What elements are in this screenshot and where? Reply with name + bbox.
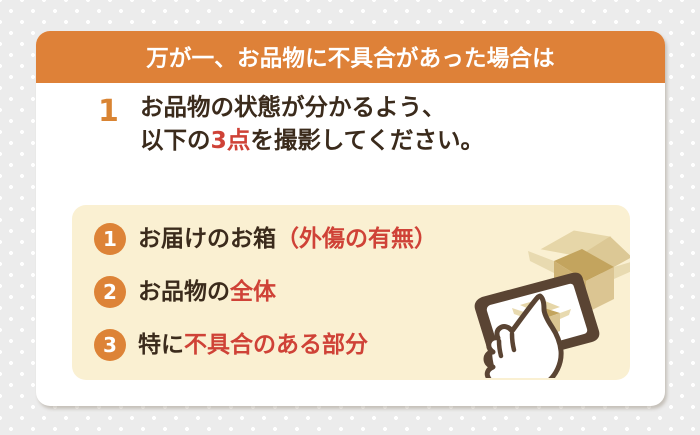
step-line2-suffix: を撮影してください。 — [250, 126, 484, 154]
page-background: 万が一、お品物に不具合があった場合は 1 お品物の状態が分かるよう、 以下の3点… — [0, 0, 700, 435]
tablet-device-icon — [475, 273, 600, 367]
checklist-badge-2: 2 — [94, 276, 126, 308]
checklist-item-3: 3 特に不具合のある部分 — [94, 327, 368, 363]
box-on-screen-icon — [512, 299, 571, 337]
checklist-text-1-highlight: （外傷の有無） — [276, 226, 437, 252]
checklist-item-1: 1 お届けのお箱（外傷の有無） — [94, 221, 437, 257]
card-header-bar: 万が一、お品物に不具合があった場合は — [36, 31, 665, 83]
checklist-text-3-prefix: 特に — [138, 332, 184, 358]
checklist-item-2: 2 お品物の全体 — [94, 274, 276, 310]
info-card: 万が一、お品物に不具合があった場合は 1 お品物の状態が分かるよう、 以下の3点… — [36, 31, 665, 406]
step-number: 1 — [98, 97, 119, 127]
step-line1-text: お品物の状態が分かるよう、 — [140, 93, 446, 121]
checklist-text-1: お届けのお箱（外傷の有無） — [138, 228, 437, 251]
checklist-text-2-highlight: 全体 — [230, 279, 276, 305]
checklist-text-2: お品物の全体 — [138, 281, 276, 304]
step-text-line-1: お品物の状態が分かるよう、 — [140, 91, 610, 124]
checklist-badge-3: 3 — [94, 329, 126, 361]
checklist-text-2-prefix: お品物の — [138, 279, 230, 305]
step-text-line-2: 以下の3点を撮影してください。 — [140, 124, 610, 157]
step-line2-prefix: 以下の — [140, 126, 211, 154]
checklist-text-1-prefix: お届けのお箱 — [138, 226, 276, 252]
step-text: お品物の状態が分かるよう、 以下の3点を撮影してください。 — [140, 91, 610, 158]
step-line2-highlight: 3点 — [211, 126, 251, 154]
photo-checklist-panel: 1 お届けのお箱（外傷の有無） 2 お品物の全体 3 特に不具合のある部分 — [72, 205, 630, 380]
checklist-text-3-highlight: 不具合のある部分 — [184, 332, 368, 358]
step-one-block: 1 お品物の状態が分かるよう、 以下の3点を撮影してください。 — [36, 83, 665, 188]
card-header-title: 万が一、お品物に不具合があった場合は — [146, 41, 555, 73]
cardboard-box-icon — [528, 231, 630, 325]
hand-tapping-tablet-photographing-box-illustration — [468, 213, 630, 378]
pointing-hand-cursor-icon — [486, 296, 561, 378]
checklist-text-3: 特に不具合のある部分 — [138, 334, 368, 357]
checklist-badge-1: 1 — [94, 223, 126, 255]
